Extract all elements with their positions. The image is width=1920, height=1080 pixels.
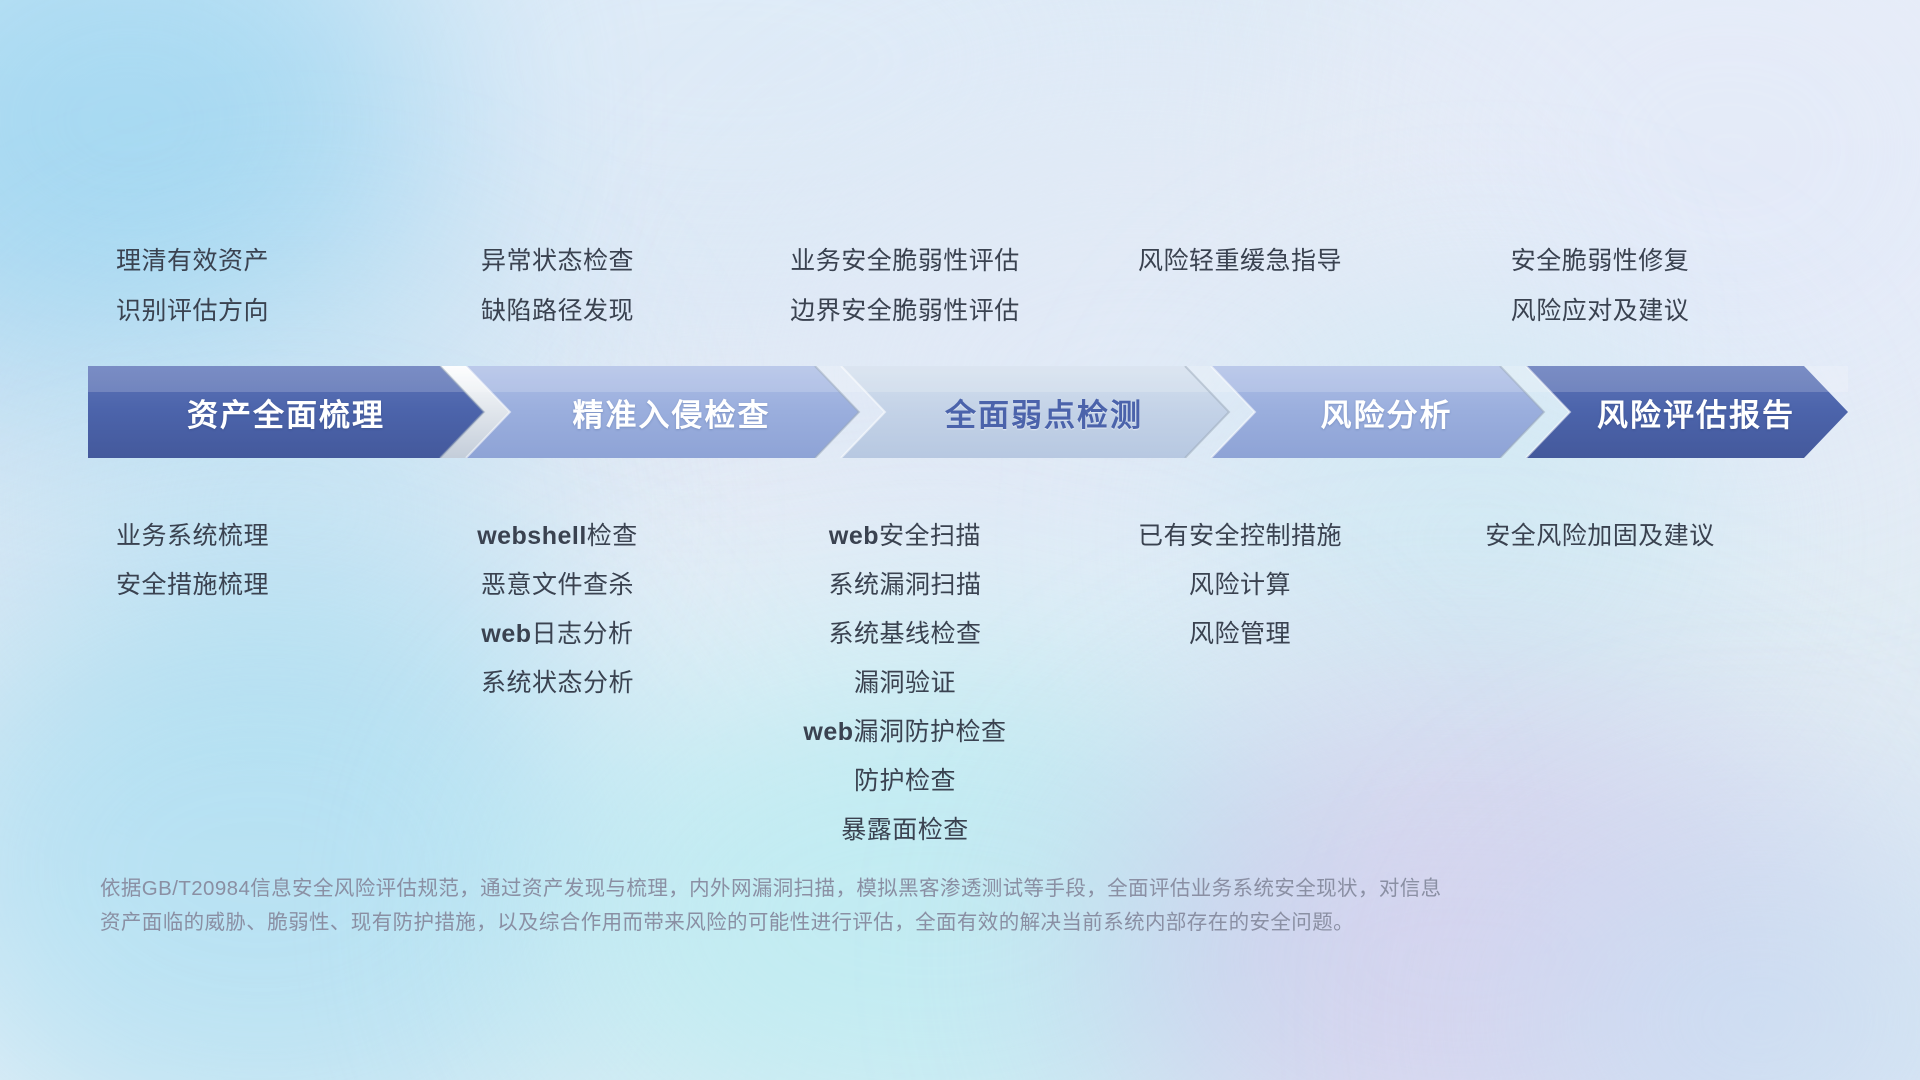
top-note: 风险轻重缓急指导: [1080, 236, 1400, 286]
bottom-items-stage-5: 安全风险加固及建议: [1400, 512, 1800, 561]
list-item: webshell检查: [385, 512, 730, 561]
list-item-suffix: 漏洞防护检查: [854, 718, 1007, 746]
top-note: 边界安全脆弱性评估: [730, 286, 1080, 336]
list-item-suffix: 日志分析: [532, 620, 634, 648]
top-note: 安全脆弱性修复: [1400, 236, 1800, 286]
list-item: 系统基线检查: [730, 610, 1080, 659]
footer-description: 依据GB/T20984信息安全风险评估规范，通过资产发现与梳理，内外网漏洞扫描，…: [100, 872, 1820, 940]
list-item: 防护检查: [730, 757, 1080, 806]
list-item: 风险计算: [1080, 561, 1400, 610]
list-item: 恶意文件查杀: [385, 561, 730, 610]
list-item: 风险管理: [1080, 610, 1400, 659]
top-note: 识别评估方向: [0, 286, 385, 336]
list-item: 业务系统梳理: [0, 512, 385, 561]
top-note: 缺陷路径发现: [385, 286, 730, 336]
top-notes-stage-2: 异常状态检查 缺陷路径发现: [385, 236, 730, 336]
list-item: 已有安全控制措施: [1080, 512, 1400, 561]
top-notes-stage-1: 理清有效资产 识别评估方向: [0, 236, 385, 336]
footer-line-2: 资产面临的威胁、脆弱性、现有防护措施，以及综合作用而带来风险的可能性进行评估，全…: [100, 906, 1820, 940]
list-item: web安全扫描: [730, 512, 1080, 561]
footer-line-1: 依据GB/T20984信息安全风险评估规范，通过资产发现与梳理，内外网漏洞扫描，…: [100, 872, 1820, 906]
chevron-gloss: [88, 366, 1848, 392]
list-item: 系统漏洞扫描: [730, 561, 1080, 610]
bottom-items-stage-2: webshell检查 恶意文件查杀 web日志分析 系统状态分析: [385, 512, 730, 708]
top-notes-stage-4: 风险轻重缓急指导: [1080, 236, 1400, 336]
top-note: 风险应对及建议: [1400, 286, 1800, 336]
top-notes-stage-5: 安全脆弱性修复 风险应对及建议: [1400, 236, 1800, 336]
top-note: 异常状态检查: [385, 236, 730, 286]
top-notes-stage-3: 业务安全脆弱性评估 边界安全脆弱性评估: [730, 236, 1080, 336]
list-item: 系统状态分析: [385, 659, 730, 708]
bottom-items-stage-1: 业务系统梳理 安全措施梳理: [0, 512, 385, 610]
bottom-items-stage-4: 已有安全控制措施 风险计算 风险管理: [1080, 512, 1400, 659]
list-item: web漏洞防护检查: [730, 708, 1080, 757]
list-item: 安全风险加固及建议: [1400, 512, 1800, 561]
list-item: web日志分析: [385, 610, 730, 659]
list-item-suffix: 安全扫描: [879, 522, 981, 550]
top-notes-row: 理清有效资产 识别评估方向 异常状态检查 缺陷路径发现 业务安全脆弱性评估 边界…: [0, 236, 1920, 336]
diagram-canvas: 理清有效资产 识别评估方向 异常状态检查 缺陷路径发现 业务安全脆弱性评估 边界…: [0, 0, 1920, 1080]
bottom-items-stage-3: web安全扫描 系统漏洞扫描 系统基线检查 漏洞验证 web漏洞防护检查 防护检…: [730, 512, 1080, 855]
list-item: 安全措施梳理: [0, 561, 385, 610]
list-item: 漏洞验证: [730, 659, 1080, 708]
list-item: 暴露面检查: [730, 806, 1080, 855]
bottom-items-row: 业务系统梳理 安全措施梳理 webshell检查 恶意文件查杀 web日志分析 …: [0, 512, 1920, 855]
top-note: 业务安全脆弱性评估: [730, 236, 1080, 286]
process-chevron-banner: 资产全面梳理 精准入侵检查 全面弱点检测 风险分析 风险评估报告: [88, 366, 1848, 458]
top-note: 理清有效资产: [0, 236, 385, 286]
list-item-suffix: 检查: [587, 522, 638, 550]
